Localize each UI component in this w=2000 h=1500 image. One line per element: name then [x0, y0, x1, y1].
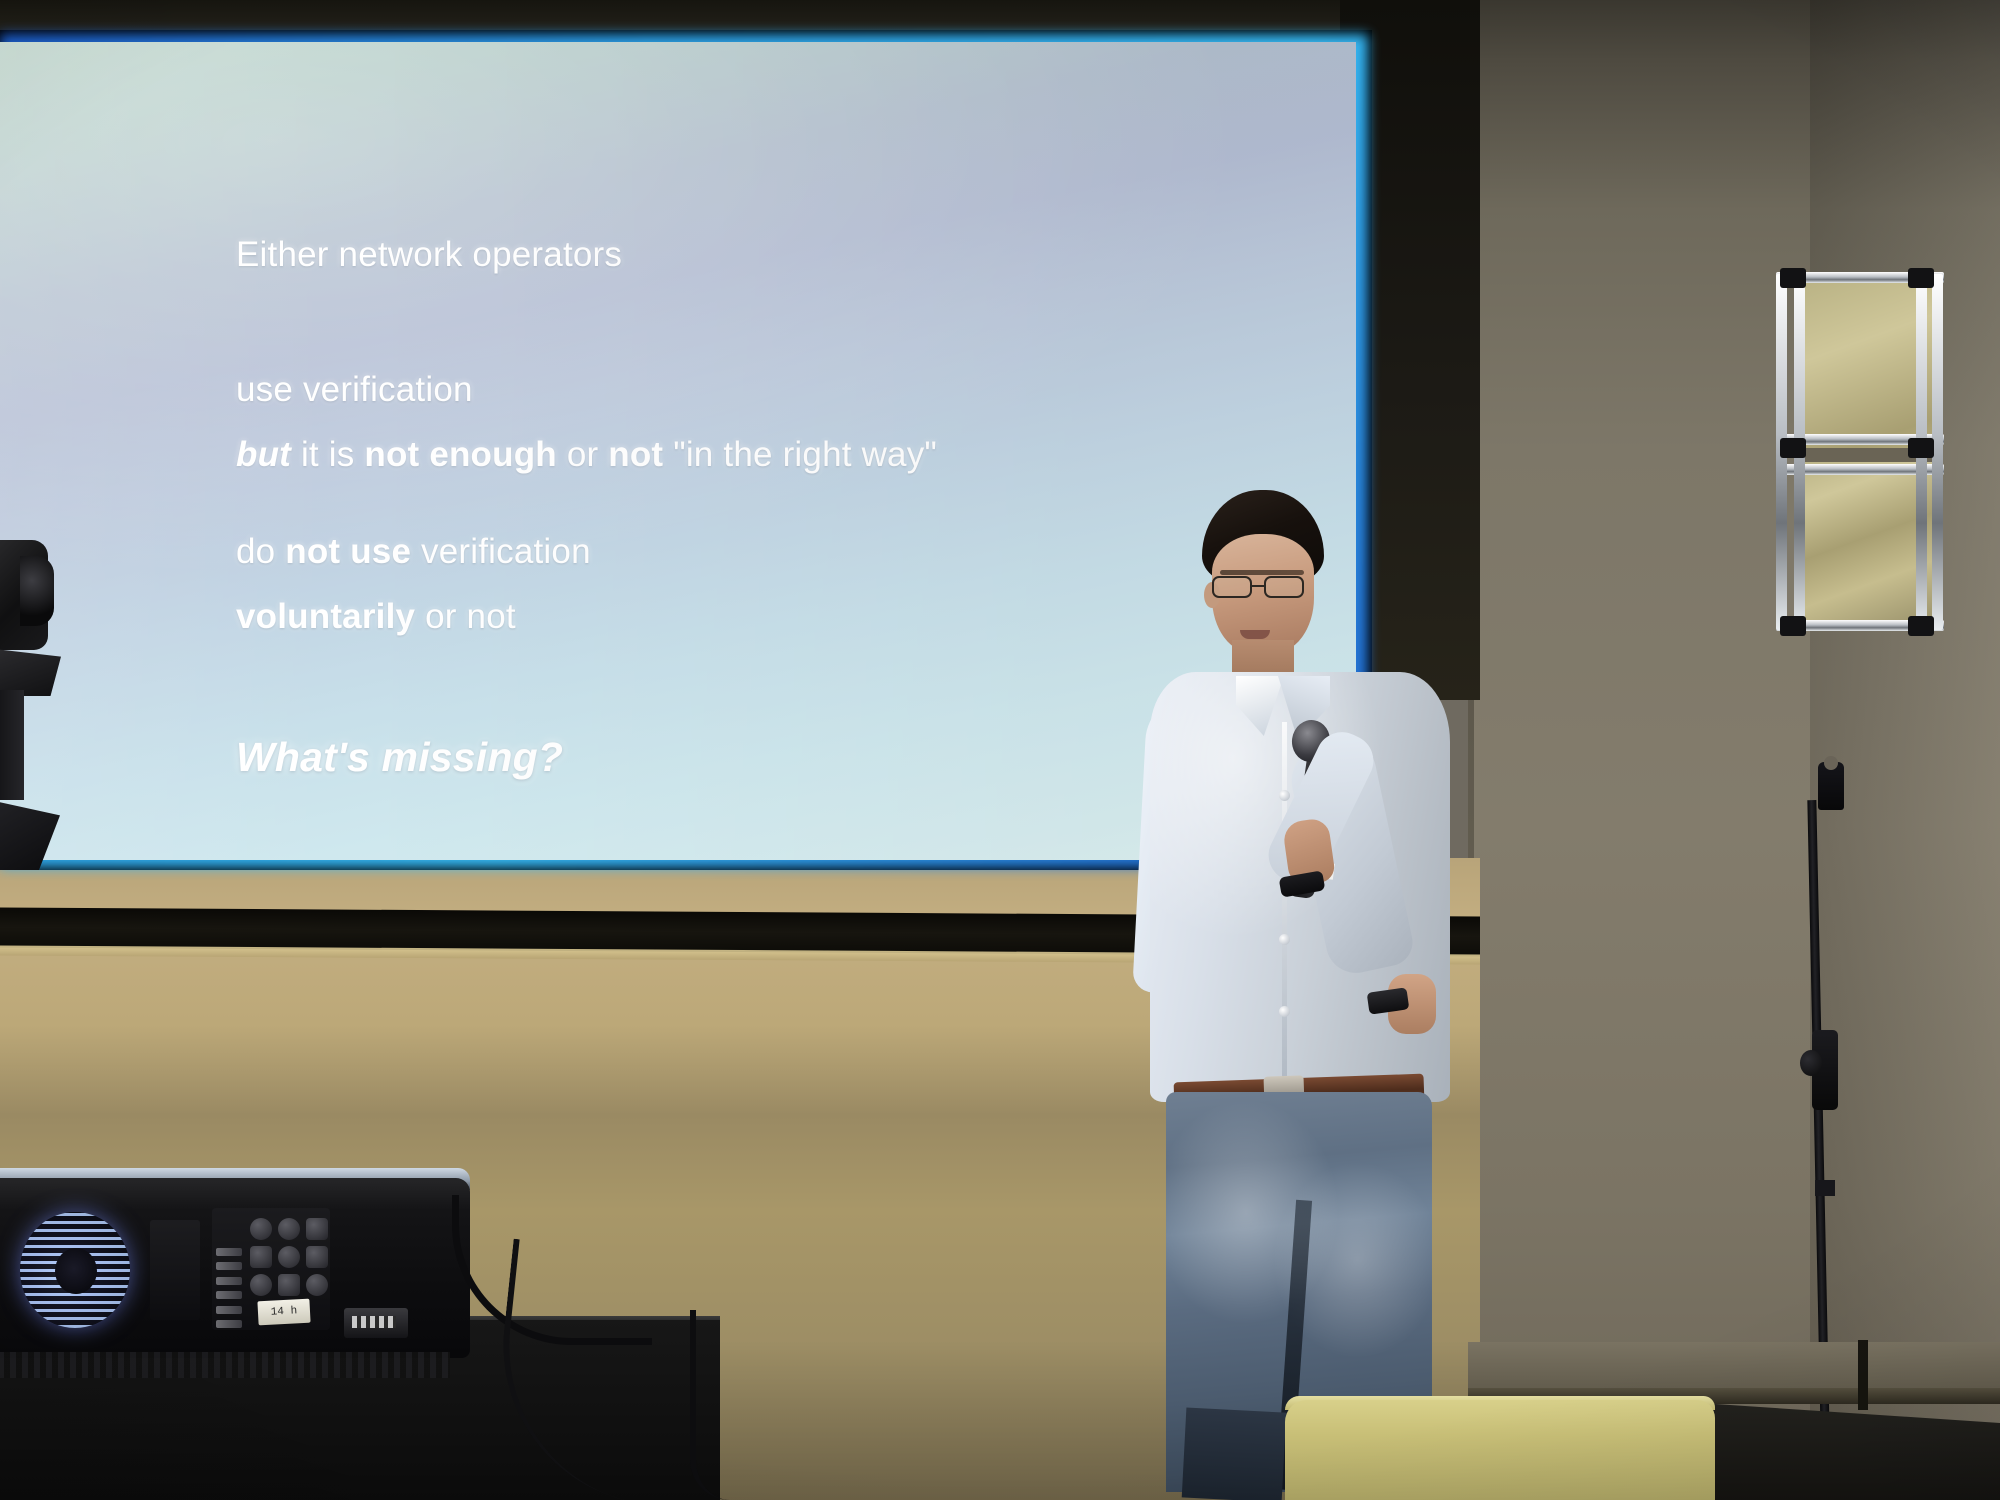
slide-line-but-not-enough: but it is not enough or not "in the righ…	[236, 437, 1296, 472]
wall-skirting	[1468, 1342, 2000, 1392]
fixture-clamp-mr	[1908, 438, 1934, 458]
projector-led	[216, 1291, 242, 1299]
shirt-button	[1279, 1006, 1290, 1017]
slide-part-right-way: "in the right way"	[663, 435, 937, 474]
slide-spacer-3	[236, 472, 1296, 534]
slide-part-verification: verification	[411, 532, 591, 571]
projector-ok-button[interactable]	[250, 1274, 272, 1296]
furniture-leg	[1858, 1340, 1868, 1410]
projector-left-arrow-button[interactable]	[306, 1246, 328, 1268]
mic-stand-height-knob[interactable]	[1800, 1050, 1822, 1076]
projector-source-button[interactable]	[306, 1218, 328, 1240]
projector-menu-button[interactable]	[250, 1246, 272, 1268]
camera-lens-icon	[20, 556, 54, 626]
fixture-clamp-tl	[1780, 268, 1806, 288]
slide-spacer-4	[236, 569, 1296, 599]
projector-cable-floor	[690, 1310, 750, 1500]
projector-right-arrow-button[interactable]	[278, 1274, 300, 1296]
presenter-brow	[1220, 570, 1304, 575]
projector-indicator-strip	[216, 1248, 242, 1328]
shirt-button	[1279, 790, 1290, 801]
projector-power-button[interactable]	[250, 1218, 272, 1240]
glasses-lens-left	[1212, 576, 1252, 598]
presenter-mouth	[1240, 630, 1270, 639]
projector-front-vent	[0, 1352, 450, 1378]
slide-part-or-not: or not	[415, 597, 516, 636]
slide-spacer-5	[236, 634, 1296, 734]
projector-led	[216, 1306, 242, 1314]
fixture-clamp-tr	[1908, 268, 1934, 288]
slide-heading-whats-missing: What's missing?	[236, 734, 1296, 781]
slide-line-use-verification: use verification	[236, 372, 1296, 407]
projector-lamp-button[interactable]	[278, 1218, 300, 1240]
slide-part-not: not	[608, 435, 663, 474]
glasses-icon	[1210, 576, 1318, 598]
shirt-button	[1279, 934, 1290, 945]
slide-part-do: do	[236, 532, 285, 571]
slide-part-but: but	[236, 435, 291, 474]
slide-text-block: Either network operators use verificatio…	[236, 237, 1296, 781]
projector-led	[216, 1248, 242, 1256]
slide-spacer-1	[236, 272, 1296, 372]
fixture-clamp-br	[1908, 616, 1934, 636]
slide-line-intro: Either network operators	[236, 237, 1296, 272]
presentation-photo-scene: Either network operators use verificatio…	[0, 0, 2000, 1500]
chair-back	[1285, 1400, 1715, 1500]
projector-led	[216, 1277, 242, 1285]
slide-line-voluntarily: voluntarily or not	[236, 599, 1296, 634]
slide-part-not-enough: not enough	[364, 435, 557, 474]
fixture-clamp-bl	[1780, 616, 1806, 636]
right-wall-panel	[1810, 0, 2000, 1500]
slide-part-not-use: not use	[285, 532, 411, 571]
projector-back-button[interactable]	[306, 1274, 328, 1296]
glasses-bridge	[1252, 585, 1264, 587]
projector-auto-button[interactable]	[278, 1246, 300, 1268]
camera-stalk	[0, 690, 24, 800]
projector-sticker-label: 14 h	[257, 1299, 310, 1326]
projector-led	[216, 1320, 242, 1328]
presenter	[1140, 490, 1520, 1500]
microphone-clip	[1818, 762, 1844, 810]
shirt-placket	[1282, 722, 1287, 1082]
projector-fan-hub	[55, 1248, 97, 1294]
mic-stand-joint	[1815, 1180, 1835, 1196]
slide-spacer-2	[236, 407, 1296, 437]
slide-part-or: or	[557, 435, 608, 474]
jeans-cuff-left	[1182, 1407, 1287, 1500]
projector-port-contacts	[352, 1316, 396, 1328]
fixture-panel-bottom	[1794, 459, 1934, 626]
slide-part-it-is: it is	[291, 435, 364, 474]
slide-part-voluntarily: voluntarily	[236, 597, 415, 636]
projector-spec-plate	[150, 1220, 200, 1320]
glasses-lens-right	[1264, 576, 1304, 598]
slide-line-do-not-use: do not use verification	[236, 534, 1296, 569]
fixture-clamp-ml	[1780, 438, 1806, 458]
projector-led	[216, 1262, 242, 1270]
wall-mounted-chrome-fixture	[1768, 268, 1948, 636]
